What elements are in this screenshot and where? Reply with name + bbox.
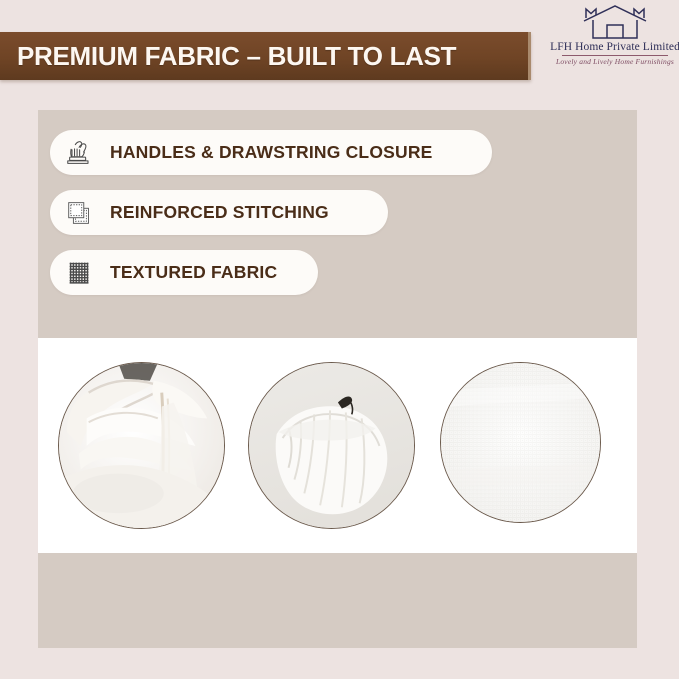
house-outline-icon: [578, 4, 652, 40]
page-canvas: PREMIUM FABRIC – BUILT TO LAST LFH Home …: [0, 0, 679, 679]
product-photo-texture: [440, 362, 601, 523]
woven-mesh-icon: [62, 256, 98, 290]
hand-grip-handle-icon: [62, 136, 98, 170]
page-title: PREMIUM FABRIC – BUILT TO LAST: [17, 43, 456, 69]
feature-label: REINFORCED STITCHING: [110, 202, 329, 223]
brand-divider: [562, 55, 668, 56]
photo-texture: [441, 363, 600, 522]
brand-name: LFH Home Private Limited: [550, 41, 679, 54]
brand-tagline: Lovely and Lively Home Furnishings: [556, 57, 674, 65]
feature-label: TEXTURED FABRIC: [110, 262, 277, 283]
stitched-squares-icon: [62, 196, 98, 230]
photo-handles: [59, 363, 224, 528]
title-banner: PREMIUM FABRIC – BUILT TO LAST: [0, 32, 531, 80]
product-photo-handles: [58, 362, 225, 529]
product-photo-drawstring: [248, 362, 415, 529]
brand-logo: LFH Home Private Limited Lovely and Live…: [556, 4, 674, 78]
feature-label: HANDLES & DRAWSTRING CLOSURE: [110, 142, 433, 163]
feature-pill-stitching[interactable]: REINFORCED STITCHING: [50, 190, 388, 235]
feature-pill-handles[interactable]: HANDLES & DRAWSTRING CLOSURE: [50, 130, 492, 175]
photo-drawstring: [249, 363, 414, 528]
feature-list: HANDLES & DRAWSTRING CLOSURE REINFORCED …: [50, 130, 510, 310]
feature-pill-texture[interactable]: TEXTURED FABRIC: [50, 250, 318, 295]
